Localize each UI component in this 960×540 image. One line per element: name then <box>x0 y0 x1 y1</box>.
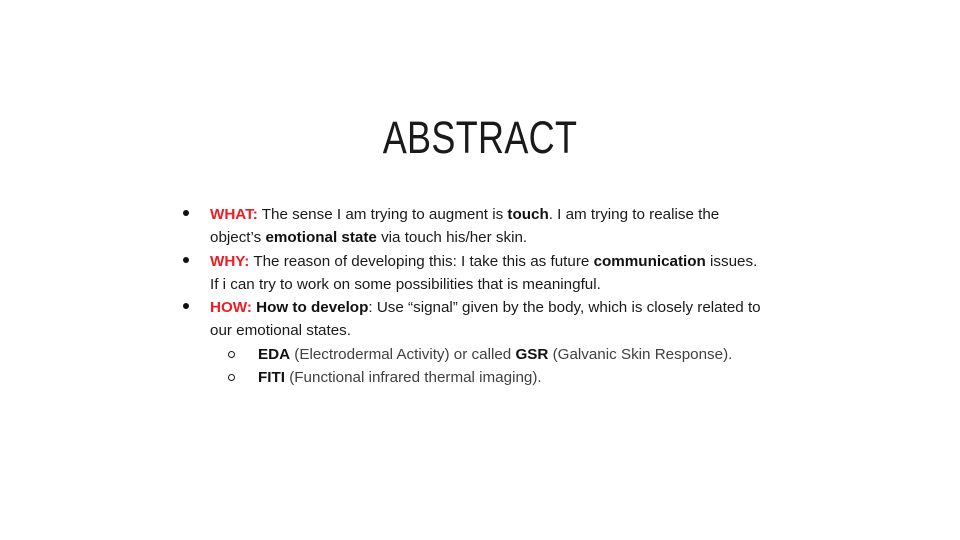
bullet-why-emphasis-communication: communication <box>594 253 706 270</box>
sub-bullet-marker-icon <box>228 351 235 358</box>
sub-bullet-desc-gsr: (Galvanic Skin Response). <box>548 346 732 363</box>
page-title: ABSTRACT <box>96 112 864 164</box>
bullet-why-text-a: The reason of developing this: I take th… <box>249 253 593 270</box>
bullet-marker-icon <box>183 210 189 216</box>
bullet-marker-icon <box>183 303 189 309</box>
sub-bullet-desc-fiti: (Functional infrared thermal imaging). <box>285 369 542 386</box>
sub-bullet-item-fiti: FITI (Functional infrared thermal imagin… <box>176 366 816 389</box>
bullet-what-emphasis-touch: touch <box>507 206 548 223</box>
slide-canvas: ABSTRACT WHAT: The sense I am trying to … <box>0 0 960 540</box>
bullet-item-what: WHAT: The sense I am trying to augment i… <box>176 203 816 250</box>
bullet-marker-icon <box>183 257 189 263</box>
sub-bullet-term-gsr: GSR <box>515 346 548 363</box>
bullet-what-text-b: . I am trying to realise the <box>549 206 720 223</box>
abstract-bullet-list: WHAT: The sense I am trying to augment i… <box>176 203 816 389</box>
sub-bullet-list: EDA (Electrodermal Activity) or called G… <box>176 343 816 390</box>
bullet-how-line2-a: our emotional states. <box>210 322 351 339</box>
bullet-item-why: WHY: The reason of developing this: I ta… <box>176 250 816 297</box>
bullet-label-how: HOW: <box>210 299 252 316</box>
bullet-what-line2-b: via touch his/her skin. <box>377 229 527 246</box>
bullet-what-emphasis-emotional-state: emotional state <box>265 229 376 246</box>
bullet-item-how: HOW: How to develop: Use “signal” given … <box>176 296 816 343</box>
sub-bullet-term-eda: EDA <box>258 346 290 363</box>
bullet-how-line2: our emotional states. <box>210 319 816 342</box>
sub-bullet-desc-eda: (Electrodermal Activity) or called <box>290 346 515 363</box>
bullet-label-what: WHAT: <box>210 206 258 223</box>
sub-bullet-term-fiti: FITI <box>258 369 285 386</box>
bullet-label-why: WHY: <box>210 253 249 270</box>
bullet-what-line2: object’s emotional state via touch his/h… <box>210 226 816 249</box>
bullet-how-text-b: : Use “signal” given by the body, which … <box>368 299 760 316</box>
bullet-why-line2-a: If i can try to work on some possibiliti… <box>210 276 601 293</box>
sub-bullet-item-eda: EDA (Electrodermal Activity) or called G… <box>176 343 816 366</box>
bullet-why-line2: If i can try to work on some possibiliti… <box>210 273 816 296</box>
bullet-how-emphasis-how-to-develop: How to develop <box>256 299 368 316</box>
sub-bullet-marker-icon <box>228 374 235 381</box>
bullet-what-text-a: The sense I am trying to augment is <box>258 206 508 223</box>
bullet-what-line2-a: object’s <box>210 229 265 246</box>
bullet-why-text-b: issues. <box>706 253 758 270</box>
